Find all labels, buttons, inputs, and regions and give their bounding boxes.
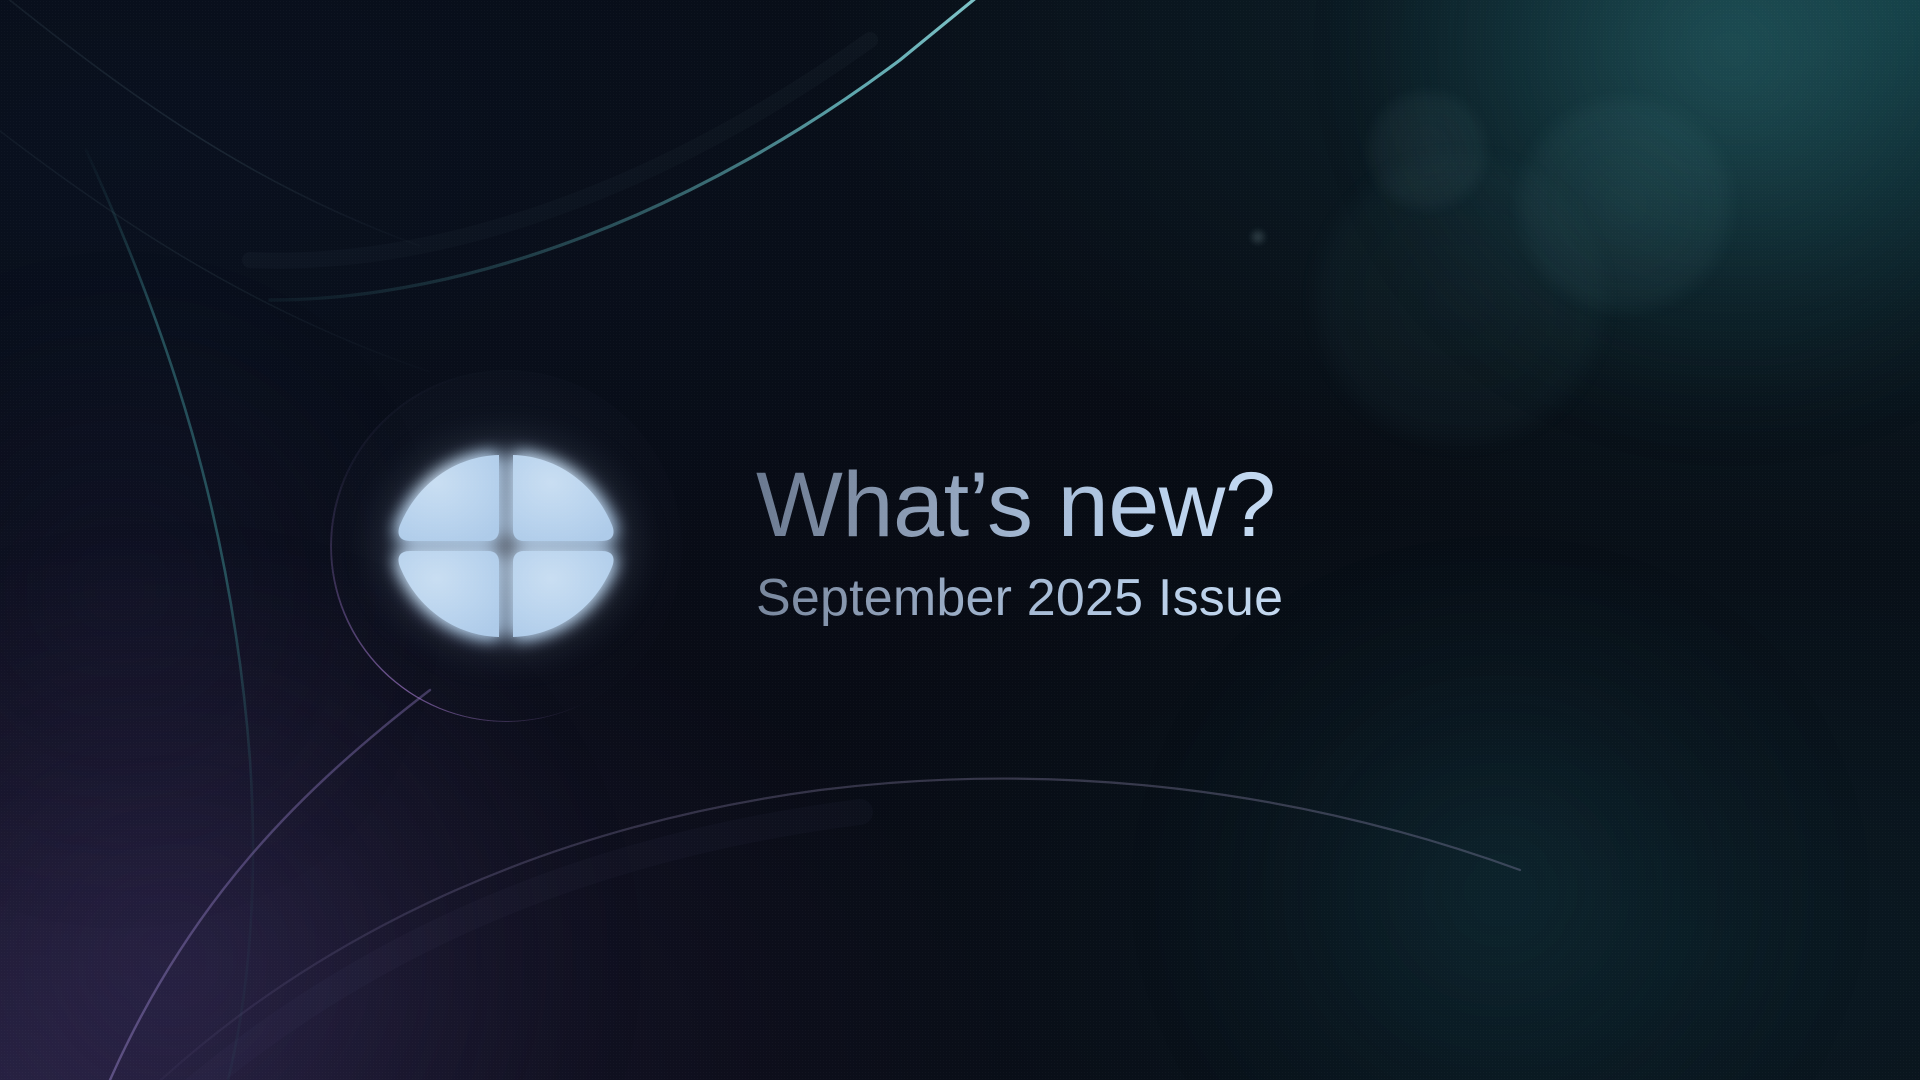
four-petal-quatrefoil-icon [391,451,621,641]
soft-band-bottom [170,812,860,1080]
hairline-arc-top-left-a [0,0,420,246]
hero-content: What’s new? September 2025 Issue [296,336,1626,756]
bokeh-small-top-right [1365,88,1490,213]
bokeh-dot-top-right [1249,228,1267,246]
teal-arc-left [86,150,253,1080]
issue-subtitle: September 2025 Issue [756,569,1283,627]
slide-canvas: What’s new? September 2025 Issue [0,0,1920,1080]
hairline-arc-top-left-b [0,84,430,372]
faint-arc-upper-left [250,40,870,261]
page-title: What’s new? [756,457,1283,555]
hero-text: What’s new? September 2025 Issue [756,457,1283,635]
bokeh-medium-top-right [1515,95,1735,315]
teal-sweep-arc-top [270,0,1010,300]
brand-logo [296,336,716,756]
lavender-arc-bottom [150,779,1520,1080]
